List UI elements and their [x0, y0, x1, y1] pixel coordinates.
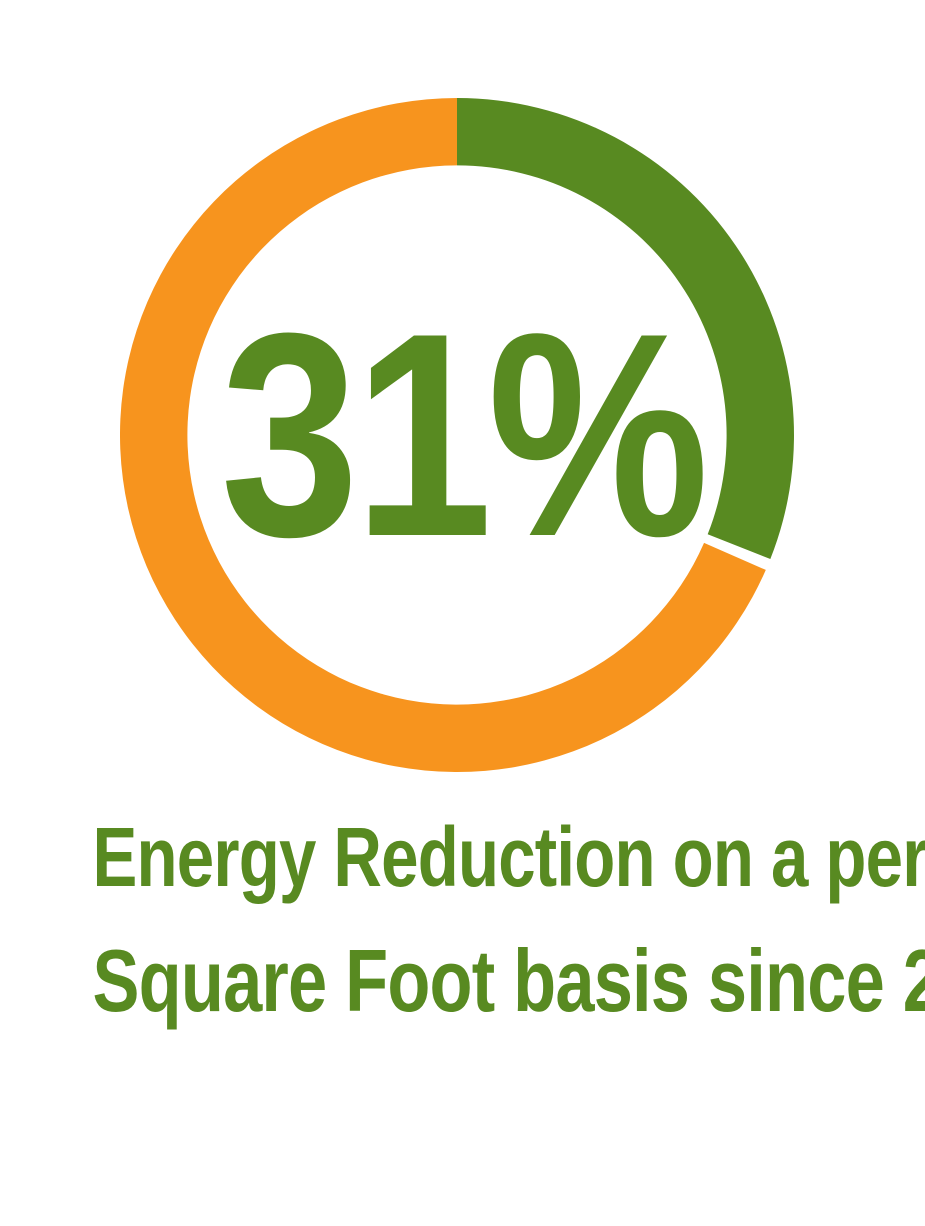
caption-line-one: Energy Reduction on a per [93, 795, 833, 919]
donut-chart: 31% [0, 0, 925, 790]
caption-block: Energy Reduction on a per Square Foot ba… [0, 795, 925, 1043]
caption-line-two: Square Foot basis since 2002 [93, 919, 833, 1043]
donut-segment-energy-reduction [457, 98, 794, 559]
donut-chart-svg [120, 98, 794, 772]
infographic-root: 31% Energy Reduction on a per Square Foo… [0, 0, 925, 1226]
